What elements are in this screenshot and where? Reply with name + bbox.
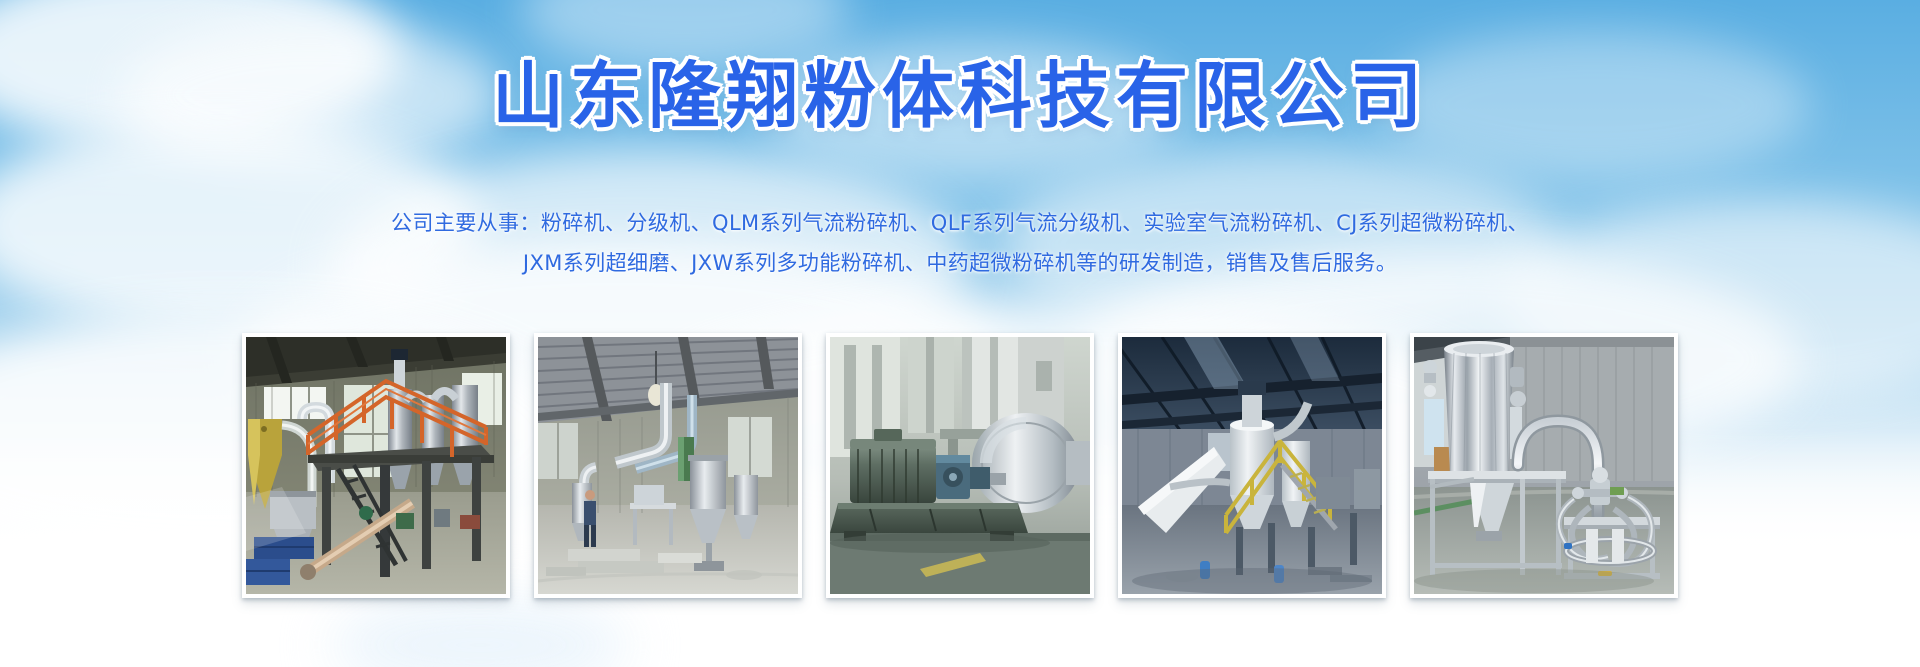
workshop-jet-mill-platform-image xyxy=(246,337,506,594)
hero-banner: 山东隆翔粉体科技有限公司 公司主要从事：粉碎机、分级机、QLM系列气流粉碎机、Q… xyxy=(0,0,1920,667)
cloud-wisp xyxy=(0,26,170,48)
cloud-wisp xyxy=(0,0,120,26)
intro-line-2: JXM系列超细磨、JXW系列多功能粉碎机、中药超微粉碎机等的研发制造，销售及售后… xyxy=(0,243,1920,283)
workshop-powder-plant-image xyxy=(1122,337,1382,594)
company-intro: 公司主要从事：粉碎机、分级机、QLM系列气流粉碎机、QLF系列气流分级机、实验室… xyxy=(0,203,1920,283)
company-title-text: 山东隆翔粉体科技有限公司 xyxy=(492,58,1428,136)
motor-and-blower-unit-image xyxy=(830,337,1090,594)
stainless-steel-pilot-mill-image xyxy=(1414,337,1674,594)
gallery-item-workshop-classifier-line[interactable] xyxy=(534,333,802,598)
gallery-item-workshop-powder-plant[interactable] xyxy=(1118,333,1386,598)
gallery-item-motor-and-blower-unit[interactable] xyxy=(826,333,1094,598)
page-title: 山东隆翔粉体科技有限公司 xyxy=(0,58,1920,136)
gallery-item-workshop-jet-mill-platform[interactable] xyxy=(242,333,510,598)
gallery-item-stainless-steel-pilot-mill[interactable] xyxy=(1410,333,1678,598)
workshop-classifier-line-image xyxy=(538,337,798,594)
photo-gallery xyxy=(0,333,1920,598)
intro-line-1: 公司主要从事：粉碎机、分级机、QLM系列气流粉碎机、QLF系列气流分级机、实验室… xyxy=(0,203,1920,243)
